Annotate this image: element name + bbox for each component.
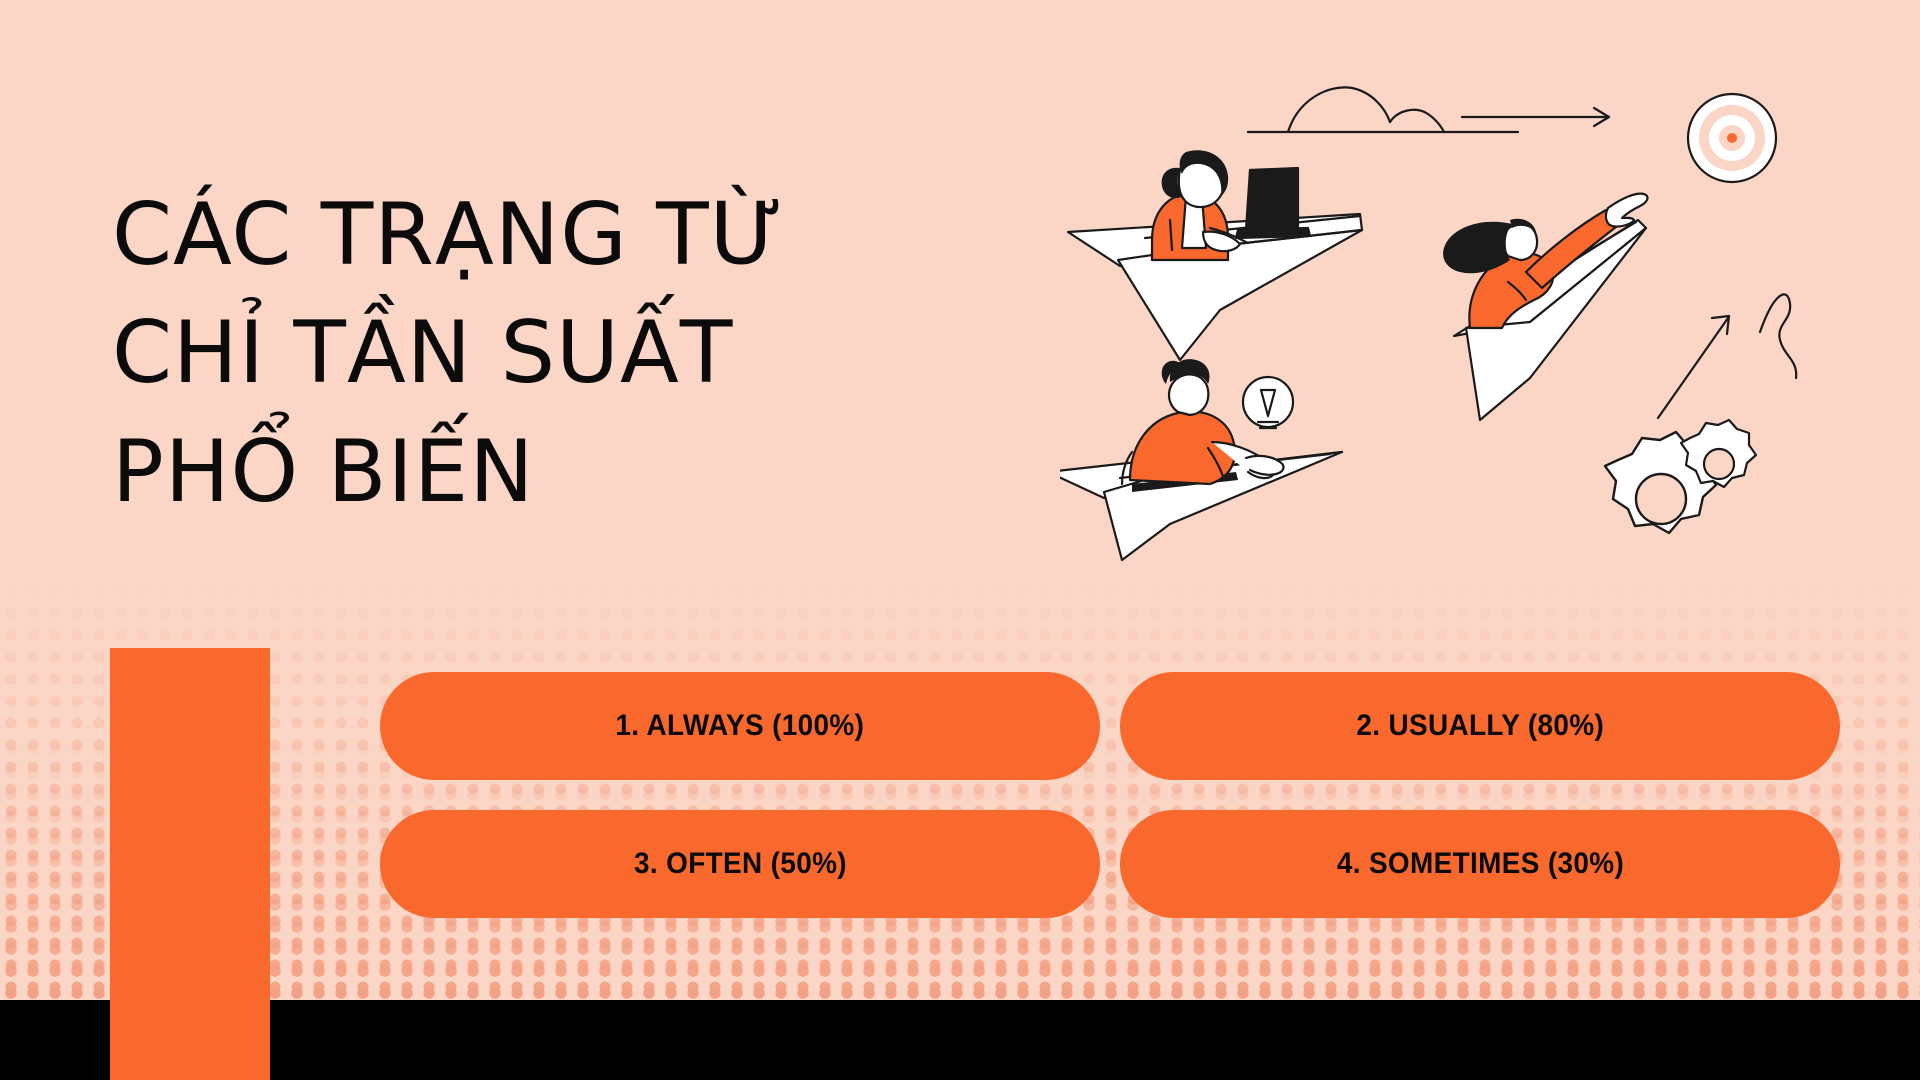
adverb-button-usually-label: 2. USUALLY (80%): [1356, 709, 1604, 743]
bullseye-target-icon: [1688, 94, 1776, 182]
cloud-icon: [1248, 87, 1518, 132]
arrow-up-right-icon: [1658, 316, 1729, 418]
arrow-right-icon: [1462, 108, 1609, 126]
squiggle-decoration: [1760, 294, 1796, 378]
paper-plane-with-pointing-woman: [1443, 194, 1647, 420]
adverb-button-sometimes[interactable]: 4. SOMETIMES (30%): [1120, 810, 1840, 918]
adverb-button-often-label: 3. OFTEN (50%): [634, 847, 847, 881]
paper-plane-with-lightbulb-man: [1060, 359, 1342, 560]
lightbulb-icon: [1243, 377, 1293, 428]
adverb-button-grid: 1. ALWAYS (100%) 2. USUALLY (80%) 3. OFT…: [380, 672, 1840, 918]
black-bottom-band: [0, 1000, 1920, 1080]
adverb-button-often[interactable]: 3. OFTEN (50%): [380, 810, 1100, 918]
adverb-button-sometimes-label: 4. SOMETIMES (30%): [1336, 847, 1623, 881]
adverb-button-always-label: 1. ALWAYS (100%): [616, 709, 865, 743]
adverb-button-usually[interactable]: 2. USUALLY (80%): [1120, 672, 1840, 780]
hero-illustration: [1060, 60, 1860, 580]
page-title: CÁC TRẠNG TỪ CHỈ TẦN SUẤT PHỔ BIẾN: [112, 176, 932, 532]
orange-vertical-bar: [110, 648, 270, 1080]
adverb-button-always[interactable]: 1. ALWAYS (100%): [380, 672, 1100, 780]
paper-plane-with-laptop-woman: [1068, 150, 1362, 360]
